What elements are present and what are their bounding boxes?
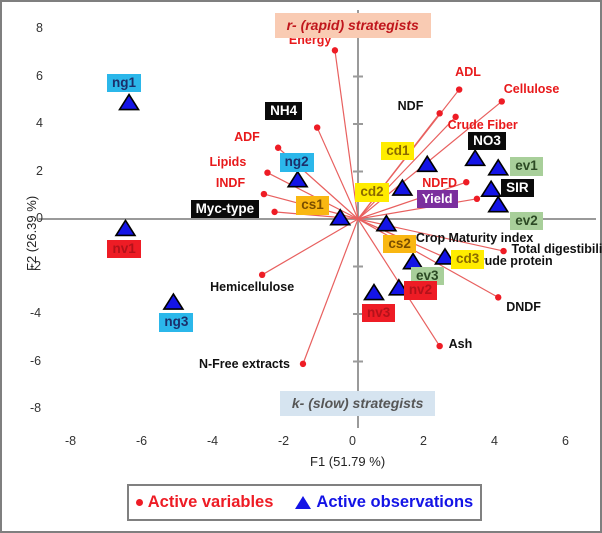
- y-tick-label: 6: [36, 69, 43, 83]
- observation-point-marker: [489, 160, 508, 175]
- variable-label-ndfd: NDFD: [422, 177, 457, 190]
- variable-point-marker: [456, 86, 462, 92]
- blue-triangle-marker-icon: [295, 496, 311, 509]
- observation-point-marker: [364, 285, 383, 300]
- legend-label-active-observations: Active observations: [316, 493, 473, 512]
- y-tick-label: -4: [30, 306, 41, 320]
- x-tick-label: -8: [65, 434, 76, 448]
- observation-point-marker: [331, 210, 350, 225]
- observation-box-ev2: ev2: [510, 212, 543, 231]
- observation-point-marker: [164, 294, 183, 309]
- x-tick-label: -6: [136, 434, 147, 448]
- variable-point-marker: [499, 98, 505, 104]
- y-tick-label: 4: [36, 116, 43, 130]
- variable-point-marker: [436, 343, 442, 349]
- observation-box-cs2: cs2: [383, 235, 416, 254]
- y-axis-title: F2 (26.39 %): [24, 196, 39, 271]
- variable-label-adf: ADF: [234, 131, 260, 144]
- banner-slow-strategists: k- (slow) strategists: [280, 391, 435, 416]
- variable-point-marker: [500, 248, 506, 254]
- variable-label-adl: ADL: [455, 66, 481, 79]
- variable-point-marker: [300, 361, 306, 367]
- variable-label-crude-fiber: Crude Fiber: [448, 119, 518, 132]
- observation-box-ng3: ng3: [159, 313, 193, 332]
- variable-point-marker: [495, 294, 501, 300]
- variable-label-cellulose: Cellulose: [504, 83, 560, 96]
- red-dot-marker-icon: [136, 499, 143, 506]
- x-tick-label: 0: [349, 434, 356, 448]
- observation-box-cd1: cd1: [381, 142, 414, 161]
- observation-box-sir: SIR: [501, 179, 534, 198]
- observation-point-marker: [120, 95, 139, 110]
- y-tick-label: -6: [30, 354, 41, 368]
- variable-label-lipids: Lipids: [209, 156, 246, 169]
- observation-box-ev1: ev1: [510, 157, 543, 176]
- observation-box-nv1: nv1: [107, 240, 140, 259]
- observation-box-nv3: nv3: [362, 304, 395, 323]
- x-tick-label: 4: [491, 434, 498, 448]
- legend-item-active-variables: Active variables: [136, 493, 274, 512]
- x-tick-label: 6: [562, 434, 569, 448]
- x-tick-label: -2: [278, 434, 289, 448]
- observation-box-cs1: cs1: [296, 196, 329, 215]
- observation-box-ng1: ng1: [107, 74, 141, 93]
- y-tick-label: 8: [36, 21, 43, 35]
- observation-box-cd2: cd2: [355, 183, 388, 202]
- observation-box-no3: NO3: [468, 132, 506, 151]
- observation-point-marker: [288, 172, 307, 187]
- observation-point-marker: [489, 197, 508, 212]
- legend-label-active-variables: Active variables: [148, 493, 274, 512]
- observation-point-marker: [482, 181, 501, 196]
- observation-box-cd3: cd3: [451, 250, 484, 269]
- variable-label-indf: INDF: [216, 177, 245, 190]
- variable-point-marker: [264, 169, 270, 175]
- observation-point-marker: [393, 180, 412, 195]
- pca-biplot-plot-area: -8-6-4-2024686420-2-4-6-8EnergyNH4ADFLip…: [10, 10, 596, 460]
- variable-point-marker: [332, 47, 338, 53]
- chart-legend: Active variables Active observations: [127, 484, 482, 521]
- variable-label-yield: Yield: [417, 190, 458, 208]
- variable-point-marker: [474, 196, 480, 202]
- observation-box-nv2: nv2: [404, 281, 437, 300]
- chart-frame: -8-6-4-2024686420-2-4-6-8EnergyNH4ADFLip…: [0, 0, 602, 533]
- observation-box-ng2: ng2: [280, 153, 314, 172]
- variable-label-n-free-extracts: N-Free extracts: [199, 358, 290, 371]
- variable-point-marker: [314, 124, 320, 130]
- x-tick-label: 2: [420, 434, 427, 448]
- observation-point-marker: [418, 156, 437, 171]
- y-tick-label: 2: [36, 164, 43, 178]
- observation-point-marker: [466, 150, 485, 165]
- variable-point-marker: [261, 191, 267, 197]
- variable-label-hemicellulose: Hemicellulose: [210, 281, 294, 294]
- variable-point-marker: [436, 110, 442, 116]
- y-tick-label: -8: [30, 401, 41, 415]
- variable-label-ndf: NDF: [398, 100, 424, 113]
- variable-label-dndf: DNDF: [506, 301, 541, 314]
- variable-point-marker: [463, 179, 469, 185]
- x-tick-label: -4: [207, 434, 218, 448]
- variable-label-myc-type: Myc-type: [191, 200, 260, 219]
- variable-point-marker: [259, 272, 265, 278]
- variable-label-nh4: NH4: [265, 102, 302, 121]
- legend-item-active-observations: Active observations: [295, 493, 473, 512]
- variable-point-marker: [275, 145, 281, 151]
- variable-point-marker: [271, 209, 277, 215]
- x-axis-title: F1 (51.79 %): [310, 454, 385, 469]
- observation-point-marker: [116, 220, 135, 235]
- observation-point-marker: [377, 216, 396, 231]
- banner-rapid-strategists: r- (rapid) strategists: [275, 13, 431, 38]
- variable-label-ash: Ash: [449, 338, 473, 351]
